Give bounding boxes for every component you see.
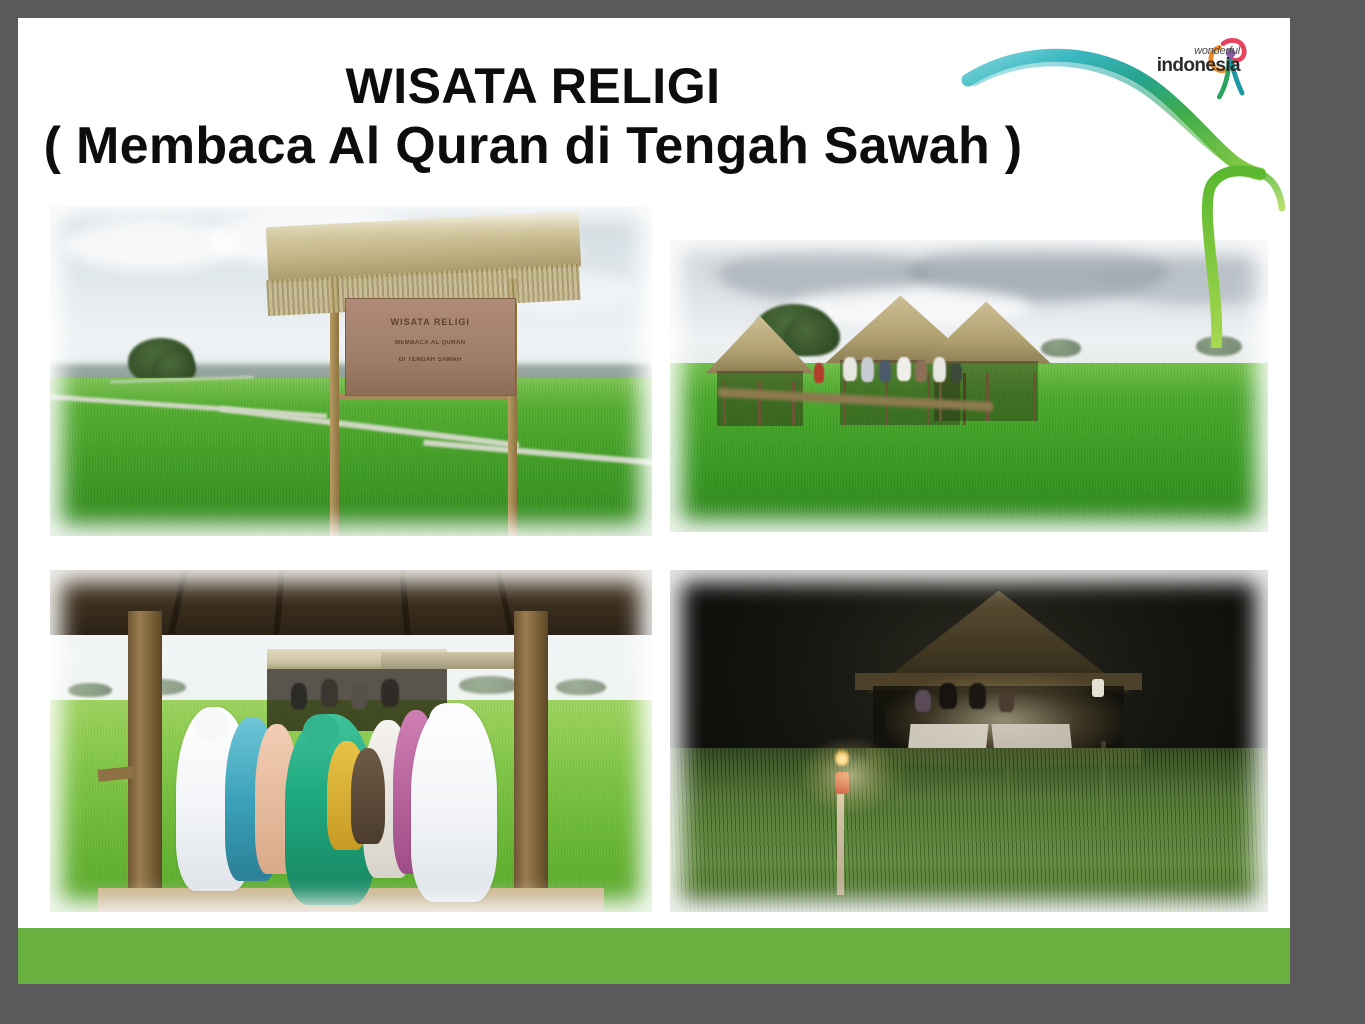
sign-line-2: MEMBACA AL QURAN — [346, 340, 515, 346]
slide-title: WISATA RELIGI ( Membaca Al Quran di Teng… — [18, 58, 1048, 177]
sign-line-1: WISATA RELIGI — [346, 317, 515, 327]
sign-line-3: DI TENGAH SAWAH — [346, 357, 515, 363]
signboard-hut-paddy-field-photo: WISATA RELIGI MEMBACA AL QURAN DI TENGAH… — [50, 206, 652, 536]
slide-canvas: wonderful indonesia WISATA RELIGI ( Memb… — [18, 18, 1290, 984]
logo-wordmark-bottom: indonesia — [1130, 56, 1240, 75]
logo-wordmark: wonderful indonesia — [1130, 46, 1240, 75]
title-line-primary: WISATA RELIGI — [18, 58, 1048, 116]
footer-accent-bar — [18, 928, 1290, 984]
women-reading-quran-gazebo-photo — [50, 570, 652, 912]
title-line-secondary: ( Membaca Al Quran di Tengah Sawah ) — [18, 116, 1048, 177]
night-gazebo-torch-photo — [670, 570, 1268, 912]
